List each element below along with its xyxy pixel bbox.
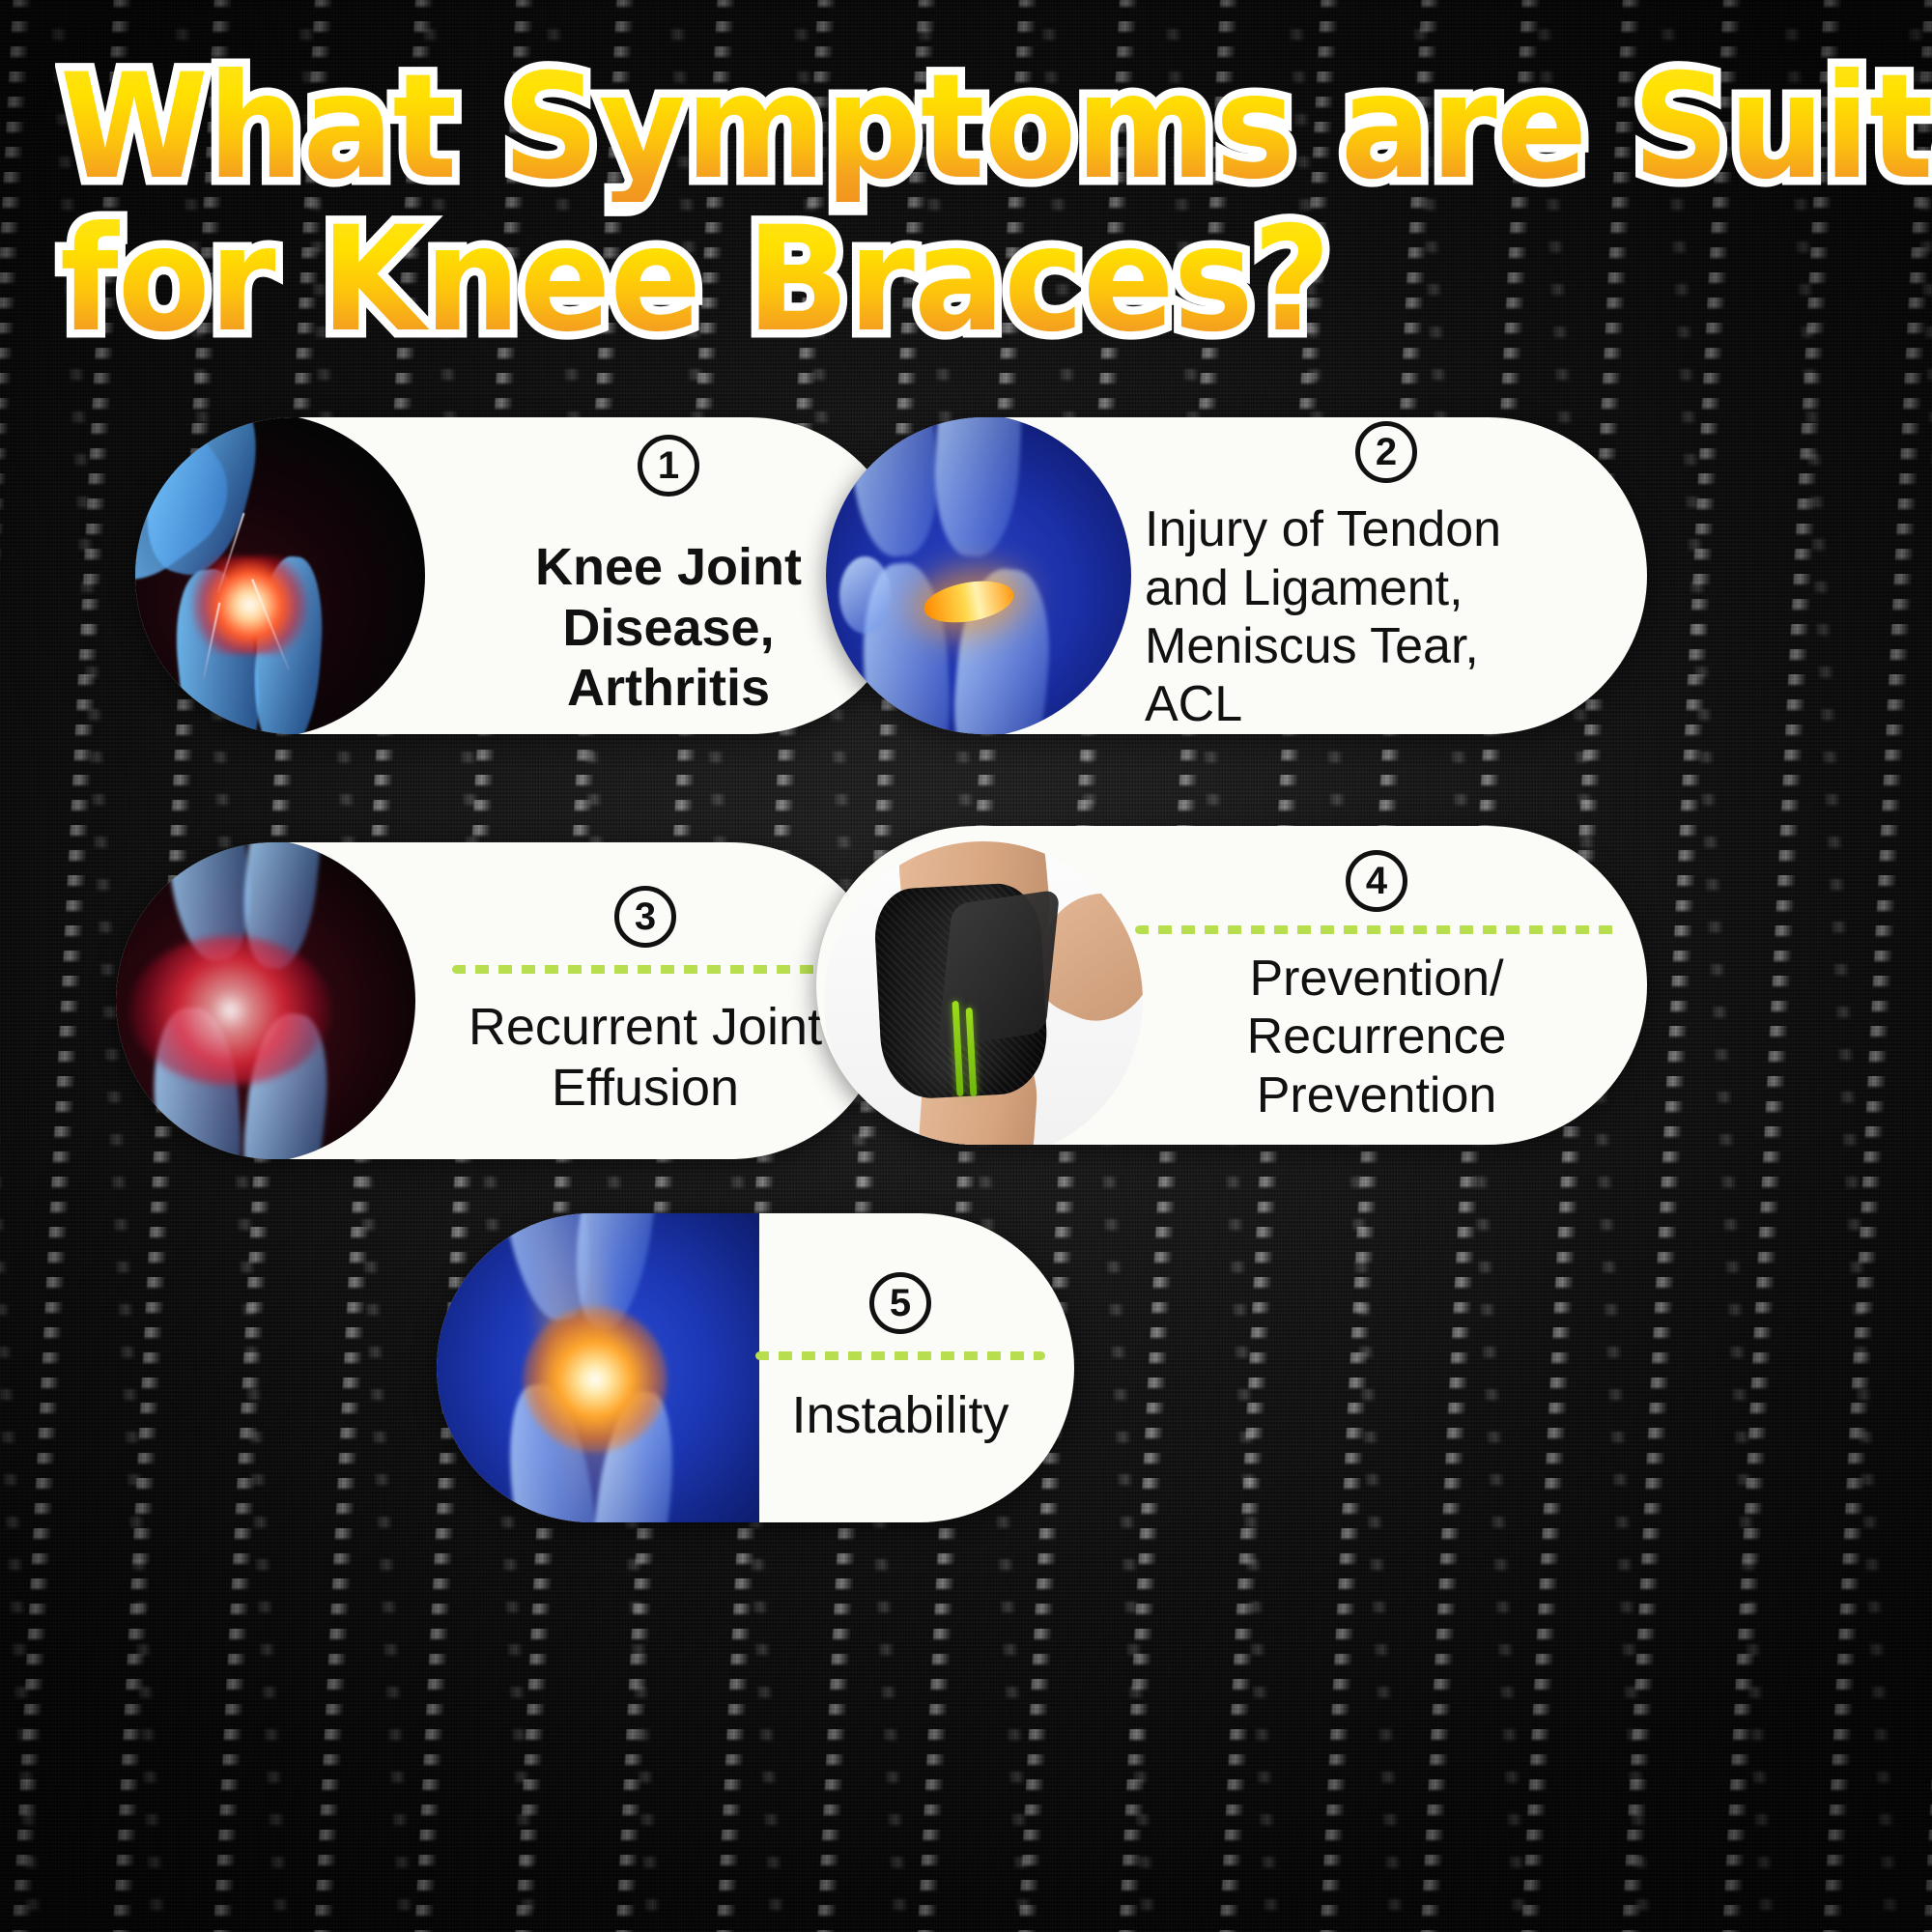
card-4-label: Prevention/ Recurrence Prevention: [1135, 950, 1618, 1124]
card-2-label: Injury of Tendon and Ligament, Meniscus …: [1145, 500, 1628, 733]
knee-xray-ligament-image: [826, 417, 1131, 734]
knee-xray-arthritis-image: [135, 417, 425, 734]
knee-xray-instability-image: [437, 1213, 759, 1522]
card-5-label: Instability: [755, 1385, 1045, 1446]
card-3-number-badge: 3: [614, 886, 676, 948]
card-3-label: Recurrent Joint Effusion: [452, 997, 838, 1118]
knee-brace-product-photo: [824, 841, 1143, 1145]
infographic-canvas: What Symptoms are Suitable What Symptoms…: [0, 0, 1932, 1932]
page-title: What Symptoms are Suitable What Symptoms…: [60, 54, 1895, 354]
card-5-divider: [755, 1351, 1045, 1360]
symptom-card-5[interactable]: 5 Instability: [437, 1213, 1074, 1522]
card-3-divider: [452, 965, 838, 974]
card-5-number-badge: 5: [869, 1272, 931, 1334]
card-2-number-badge: 2: [1355, 421, 1417, 483]
symptom-card-4[interactable]: 4 Prevention/ Recurrence Prevention: [816, 826, 1647, 1145]
title-line-2-fill: for Knee Braces?: [60, 207, 1330, 355]
knee-xray-effusion-image: [116, 842, 415, 1159]
card-4-divider: [1135, 925, 1618, 934]
symptom-card-1[interactable]: 1 Knee Joint Disease, Arthritis: [135, 417, 908, 734]
card-4-number-badge: 4: [1346, 850, 1407, 912]
title-line-1-fill: What Symptoms are Suitable: [60, 54, 1932, 202]
card-1-number-badge: 1: [638, 435, 699, 497]
title-line-2: for Knee Braces? for Knee Braces?: [60, 207, 1895, 354]
symptom-card-3[interactable]: 3 Recurrent Joint Effusion: [116, 842, 889, 1159]
card-1-label: Knee Joint Disease, Arthritis: [471, 537, 866, 719]
title-line-1: What Symptoms are Suitable What Symptoms…: [60, 54, 1895, 201]
symptom-card-2[interactable]: 2 Injury of Tendon and Ligament, Meniscu…: [826, 417, 1647, 734]
